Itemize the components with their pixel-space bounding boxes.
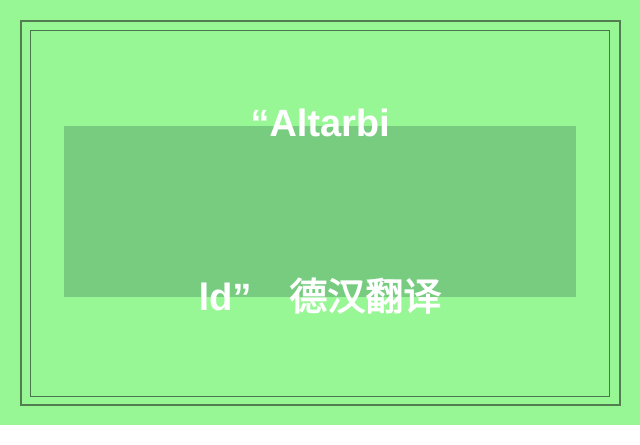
- page-canvas: “Altarbi ld” 德汉翻译: [0, 0, 640, 425]
- title-banner: “Altarbi ld” 德汉翻译: [64, 126, 576, 297]
- banner-title-line-1: “Altarbi: [64, 95, 576, 153]
- banner-title: “Altarbi ld” 德汉翻译: [64, 0, 576, 445]
- banner-title-line-2: ld” 德汉翻译: [64, 269, 576, 327]
